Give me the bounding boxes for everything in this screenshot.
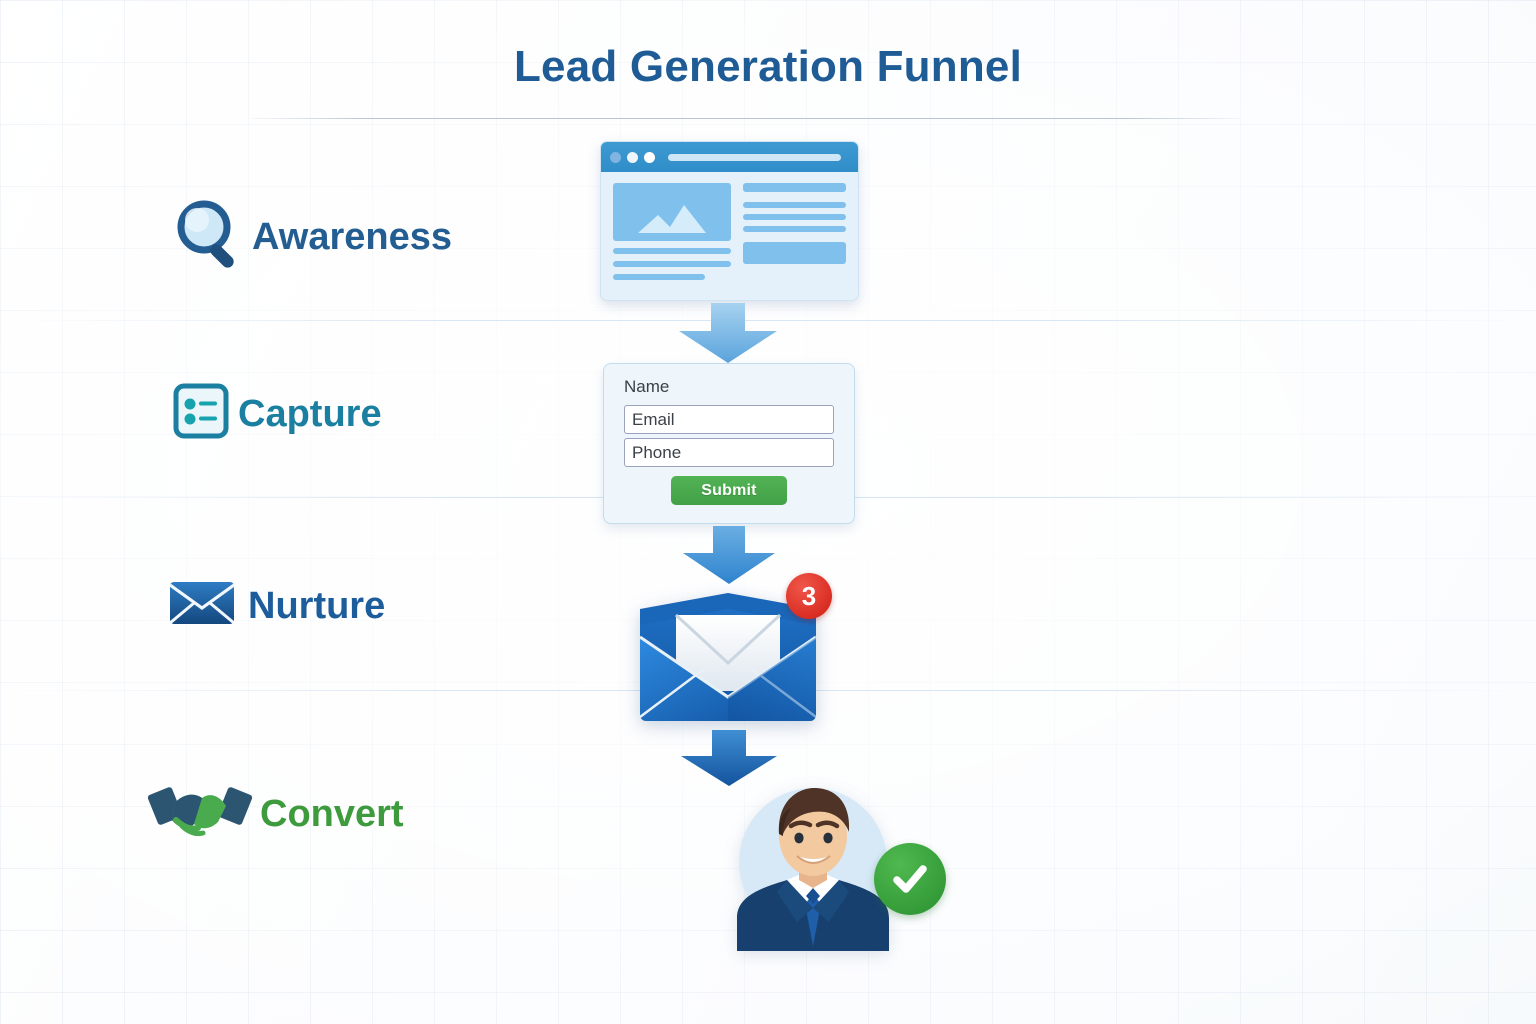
- check-circle-icon: [874, 843, 946, 915]
- sidebar-line: [743, 214, 846, 220]
- window-dot-3-icon: [644, 152, 655, 163]
- window-dot-2-icon: [627, 152, 638, 163]
- stage-text-nurture: Nurture: [248, 587, 385, 625]
- arrow-awareness-to-capture: [673, 303, 783, 365]
- unread-count-badge: 3: [786, 573, 832, 619]
- browser-content: [601, 172, 858, 299]
- browser-side-column: [743, 183, 846, 288]
- title-divider: [252, 118, 1240, 119]
- browser-address-bar[interactable]: [668, 154, 841, 161]
- browser-main-column: [613, 183, 731, 288]
- handshake-icon: [148, 780, 252, 847]
- content-line: [613, 261, 731, 267]
- content-line: [613, 274, 705, 280]
- browser-window-mockup[interactable]: [600, 141, 859, 301]
- stage-label-nurture[interactable]: Nurture: [168, 578, 385, 633]
- stage-text-capture: Capture: [238, 395, 382, 433]
- lead-capture-form[interactable]: Name Email Phone Submit: [603, 363, 855, 524]
- sidebar-heading-line: [743, 183, 846, 192]
- browser-title-bar: [601, 142, 858, 172]
- stage-text-awareness: Awareness: [252, 218, 452, 256]
- stage-label-awareness[interactable]: Awareness: [170, 196, 452, 277]
- image-placeholder-icon: [613, 183, 731, 241]
- phone-field[interactable]: Phone: [624, 438, 834, 467]
- arrow-capture-to-nurture: [678, 526, 780, 586]
- stage-label-convert[interactable]: Convert: [148, 780, 404, 847]
- window-dot-1-icon: [610, 152, 621, 163]
- content-line: [613, 248, 731, 254]
- mountain-glyph: [636, 203, 708, 233]
- sidebar-line: [743, 226, 846, 232]
- stage-text-convert: Convert: [260, 795, 404, 833]
- form-list-icon: [170, 380, 232, 447]
- form-name-label: Name: [624, 378, 834, 395]
- checkmark-glyph: [888, 857, 932, 901]
- email-field[interactable]: Email: [624, 405, 834, 434]
- page-title: Lead Generation Funnel: [0, 42, 1536, 92]
- submit-button[interactable]: Submit: [671, 476, 787, 505]
- cta-block[interactable]: [743, 242, 846, 264]
- sidebar-line: [743, 202, 846, 208]
- magnifying-glass-icon: [170, 196, 246, 277]
- envelope-icon: [168, 578, 236, 633]
- stage-label-capture[interactable]: Capture: [170, 380, 382, 447]
